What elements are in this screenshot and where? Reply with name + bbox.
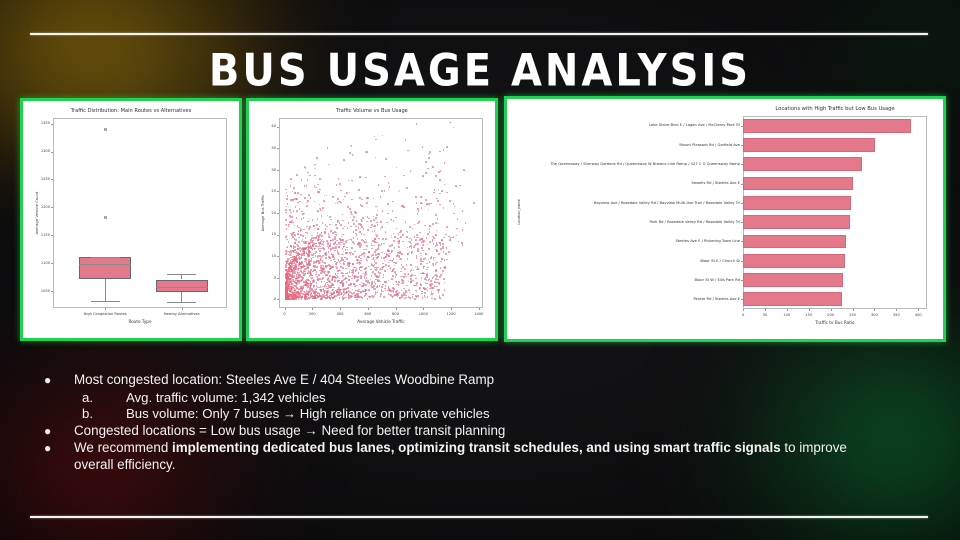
scatter-point [315,243,317,245]
scatter-point [345,292,347,294]
scatter-point [353,232,355,234]
scatter-point [381,252,383,254]
boxplot-box-1 [156,280,208,293]
scatter-point [295,285,297,287]
scatter-point [395,262,397,264]
scatter-point [449,122,451,124]
scatter-point [336,184,338,186]
scatter-point [372,240,374,242]
scatter-point [383,274,385,276]
scatter-point [345,268,347,270]
boxplot-ytickmark-6 [51,291,53,292]
scatter-point [342,248,344,250]
scatter-point [338,254,340,256]
scatter-point [387,269,389,271]
scatter-point [309,175,311,177]
bullet-list: ●Most congested location: Steeles Ave E … [44,372,874,474]
scatter-point [362,273,364,275]
scatter-point [377,276,379,278]
scatter-point [361,205,363,207]
scatter-point [388,265,390,267]
scatter-point [373,216,375,218]
bullet-sub-text: Bus volume: Only 7 buses → High reliance… [126,406,490,423]
scatter-point [343,241,345,243]
scatter-point [343,251,345,253]
scatter-point [300,292,302,294]
scatter-point [386,222,388,224]
scatter-point [288,263,290,265]
scatter-point [333,254,335,256]
scatter-point [415,196,417,198]
scatter-point [295,279,297,281]
scatter-point [379,272,381,274]
scatter-point [462,244,464,246]
scatter-point [308,264,310,266]
scatter-point [343,254,345,256]
scatter-point [363,234,365,236]
scatter-point [354,211,356,213]
scatter-point [348,222,350,224]
scatter-point [421,203,423,205]
scatter-point [311,247,313,249]
barchart-ylabel-0: Lake Shore Blvd E / Logan Ave / McCleary… [513,123,740,127]
scatter-point [366,277,368,279]
scatter-point [337,198,339,200]
scatter-point [340,190,342,192]
scatter-point [420,263,422,265]
scatter-point [444,259,446,261]
scatter-point [436,244,438,246]
scatter-point [330,243,332,245]
scatter-point [337,220,339,222]
scatter-point [303,241,305,243]
scatter-point [358,272,360,274]
scatter-point [332,289,334,291]
scatter-point [399,251,401,253]
scatter-point [346,258,348,260]
scatter-point [355,290,357,292]
scatter-point [330,286,332,288]
barchart-ylabel-3: Sewells Rd / Steeles Ave E [513,181,740,185]
scatter-point [311,237,313,239]
scatter-point [314,164,316,166]
scatter-point [361,233,363,235]
chart-card-boxplot[interactable]: Traffic Distribution: Main Routes vs Alt… [20,98,242,341]
scatter-point [442,270,444,272]
scatter-point [448,236,450,238]
scatter-point [428,248,430,250]
scatter-point [300,194,302,196]
scatter-point [444,282,446,284]
scatter-point [312,219,314,221]
scatter-point [294,298,296,300]
scatter-point [362,217,364,219]
scatter-point [348,279,350,281]
scatter-point [330,230,332,232]
scatter-point [367,229,369,231]
scatter-point [427,296,429,298]
scatter-point [350,211,352,213]
scatter-point [307,172,309,174]
scatter-point [385,285,387,287]
scatter-point [298,282,300,284]
scatter-point [319,226,321,228]
scatter-point [306,185,308,187]
scatter-point [420,238,422,240]
scatter-point [408,273,410,275]
boxplot-plot-area: Traffic Distribution: Main Routes vs Alt… [27,105,235,334]
scatter-point [396,281,398,283]
barchart-ytickmark-1 [741,145,743,146]
scatter-point [381,286,383,288]
scatter-point [352,219,354,221]
scatter-point [315,187,317,189]
scatter-point [322,207,324,209]
scatter-point [355,285,357,287]
scatter-point [344,278,346,280]
barchart-bar-9 [743,292,842,306]
scatter-point [404,268,406,270]
top-divider-rule [30,33,928,35]
scatter-point [364,253,366,255]
scatter-point [344,226,346,228]
scatter-point [435,175,437,177]
scatter-point [403,288,405,290]
scatter-point [371,275,373,277]
scatter-point [319,178,321,180]
scatter-point [345,297,347,299]
scatter-point [438,282,440,284]
scatter-point [286,225,288,227]
scatter-point [410,281,412,283]
scatter-point [377,267,379,269]
scatter-point [349,192,351,194]
scatter-point [404,298,406,300]
barchart-xtickmark-3 [809,309,810,311]
scatter-point [301,298,303,300]
scatter-point [425,172,427,174]
scatter-point [422,175,424,177]
boxplot-ytick-2: 1250 [31,177,50,181]
scatter-point [310,274,312,276]
scatter-point [395,291,397,293]
scatter-point [389,245,391,247]
scatter-point [285,189,287,191]
scatter-point [317,228,319,230]
scatter-point [387,203,389,205]
boxplot-ytickmark-1 [51,152,53,153]
scatter-point [292,292,294,294]
scatter-point [392,275,394,277]
scatter-point [292,199,294,201]
scatter-point [454,206,456,208]
scatter-point [301,211,303,213]
scatter-point [422,250,424,252]
bullet-marker: ● [44,423,74,440]
scatter-point [343,288,345,290]
barchart-bar-0 [743,119,911,133]
scatter-point [416,202,418,204]
scatter-point [414,275,416,277]
scatter-point [395,217,397,219]
scatter-points [253,105,491,334]
boxplot-ytick-0: 1350 [31,121,50,125]
scatter-point [453,127,455,129]
scatter-point [371,245,373,247]
scatter-point [310,293,312,295]
scatter-point [428,259,430,261]
bullet-item: ●We recommend implementing dedicated bus… [44,440,874,473]
scatter-point [398,242,400,244]
chart-card-barchart[interactable]: Locations with High Traffic but Low Bus … [504,96,946,342]
scatter-point [348,284,350,286]
scatter-point [433,192,435,194]
scatter-point [427,168,429,170]
scatter-point [422,244,424,246]
scatter-point [380,293,382,295]
scatter-point [398,284,400,286]
scatter-point [422,297,424,299]
scatter-point [353,237,355,239]
scatter-point [313,292,315,294]
scatter-point [429,261,431,263]
chart-card-scatter[interactable]: Traffic Volume vs Bus Usage0200400600800… [246,98,498,341]
scatter-point [324,285,326,287]
scatter-point [338,178,340,180]
scatter-point [382,135,384,137]
scatter-point [415,266,417,268]
scatter-point [294,250,296,252]
scatter-point [389,290,391,292]
scatter-point [373,288,375,290]
scatter-point [391,250,393,252]
scatter-point [371,224,373,226]
scatter-point [375,293,377,295]
scatter-point [316,282,318,284]
scatter-point [366,260,368,262]
scatter-point [314,228,316,230]
scatter-point [329,216,331,218]
scatter-point [431,256,433,258]
scatter-point [366,221,368,223]
scatter-point [364,268,366,270]
scatter-point [443,149,445,151]
scatter-point [385,238,387,240]
scatter-point [328,271,330,273]
barchart-ylabel-7: Bloor St E / Church St [513,259,740,263]
scatter-point [431,287,433,289]
scatter-point [361,266,363,268]
scatter-point [414,224,416,226]
scatter-point [413,270,415,272]
scatter-point [370,220,372,222]
scatter-point [317,184,319,186]
scatter-point [352,289,354,291]
scatter-point [438,171,440,173]
boxplot-xtick-0: High Congestion Routes [71,312,139,316]
scatter-point [437,200,439,202]
scatter-point [428,157,430,159]
scatter-point [325,257,327,259]
scatter-point [288,287,290,289]
scatter-point [286,228,288,230]
scatter-point [310,285,312,287]
scatter-point [376,235,378,237]
scatter-point [314,296,316,298]
scatter-point [367,282,369,284]
scatter-point [368,289,370,291]
scatter-point [360,275,362,277]
scatter-point [390,267,392,269]
scatter-point [302,235,304,237]
barchart-bar-3 [743,177,853,191]
scatter-point [385,264,387,266]
barchart-xtick-2: 100 [777,313,797,317]
barchart-plot-area: Locations with High Traffic but Low Bus … [511,103,939,335]
scatter-point [456,228,458,230]
scatter-point [286,192,288,194]
scatter-point [409,297,411,299]
scatter-point [298,237,300,239]
scatter-point [372,254,374,256]
scatter-point [384,288,386,290]
boxplot-ytickmark-3 [51,207,53,208]
scatter-point [405,139,407,141]
scatter-point [432,239,434,241]
scatter-point [382,263,384,265]
scatter-point [412,228,414,230]
scatter-point [297,192,299,194]
scatter-point [376,222,378,224]
scatter-point [385,158,387,160]
scatter-point [351,247,353,249]
scatter-point [453,213,455,215]
scatter-point [372,273,374,275]
scatter-point [416,123,418,125]
scatter-point [389,186,391,188]
scatter-point [388,256,390,258]
scatter-point [394,265,396,267]
scatter-point [434,189,436,191]
scatter-point [364,242,366,244]
scatter-point [350,226,352,228]
scatter-point [444,184,446,186]
bullet-marker: ● [44,440,74,457]
scatter-point [394,247,396,249]
scatter-point [315,245,317,247]
scatter-point [380,281,382,283]
scatter-point [394,236,396,238]
scatter-point [438,253,440,255]
scatter-point [342,282,344,284]
bullet-sub-text: Avg. traffic volume: 1,342 vehicles [126,390,326,407]
scatter-point [440,248,442,250]
scatter-point [335,277,337,279]
scatter-point [291,270,293,272]
scatter-point [407,231,409,233]
scatter-point [415,278,417,280]
scatter-point [365,293,367,295]
scatter-point [345,241,347,243]
scatter-point [308,297,310,299]
scatter-point [374,241,376,243]
scatter-point [346,192,348,194]
scatter-point [328,251,330,253]
scatter-point [342,220,344,222]
scatter-point [373,198,375,200]
scatter-point [404,273,406,275]
scatter-point [291,283,293,285]
scatter-point [353,292,355,294]
scatter-point [318,274,320,276]
scatter-point [426,283,428,285]
scatter-point [432,283,434,285]
scatter-point [323,200,325,202]
scatter-point [430,280,432,282]
scatter-point [382,238,384,240]
scatter-point [317,191,319,193]
scatter-point [331,267,333,269]
scatter-point [375,262,377,264]
scatter-point [309,226,311,228]
scatter-point [311,235,313,237]
scatter-point [332,297,334,299]
scatter-point [405,276,407,278]
scatter-point [406,285,408,287]
scatter-point [459,185,461,187]
scatter-point [457,218,459,220]
scatter-point [365,249,367,251]
scatter-point [388,182,390,184]
barchart-ytickmark-7 [741,261,743,262]
scatter-point [436,262,438,264]
scatter-point [405,221,407,223]
scatter-point [431,298,433,300]
scatter-point [375,217,377,219]
scatter-point [317,232,319,234]
scatter-point [298,252,300,254]
scatter-point [368,218,370,220]
scatter-point [379,269,381,271]
scatter-point [292,265,294,267]
scatter-point [377,248,379,250]
scatter-point [361,292,363,294]
scatter-point [327,296,329,298]
scatter-point [298,277,300,279]
scatter-point [461,242,463,244]
scatter-point [436,275,438,277]
scatter-point [365,284,367,286]
scatter-point [398,281,400,283]
scatter-point [361,219,363,221]
scatter-point [375,283,377,285]
scatter-point [304,261,306,263]
scatter-point [352,241,354,243]
scatter-point [285,219,287,221]
scatter-point [308,285,310,287]
boxplot-ytick-5: 1100 [31,261,50,265]
scatter-point [351,278,353,280]
scatter-point [340,241,342,243]
scatter-point [380,196,382,198]
barchart-xtickmark-8 [918,309,919,311]
scatter-point [410,275,412,277]
scatter-point [371,281,373,283]
scatter-point [364,255,366,257]
scatter-point [286,277,288,279]
scatter-point [356,220,358,222]
scatter-point [339,183,341,185]
